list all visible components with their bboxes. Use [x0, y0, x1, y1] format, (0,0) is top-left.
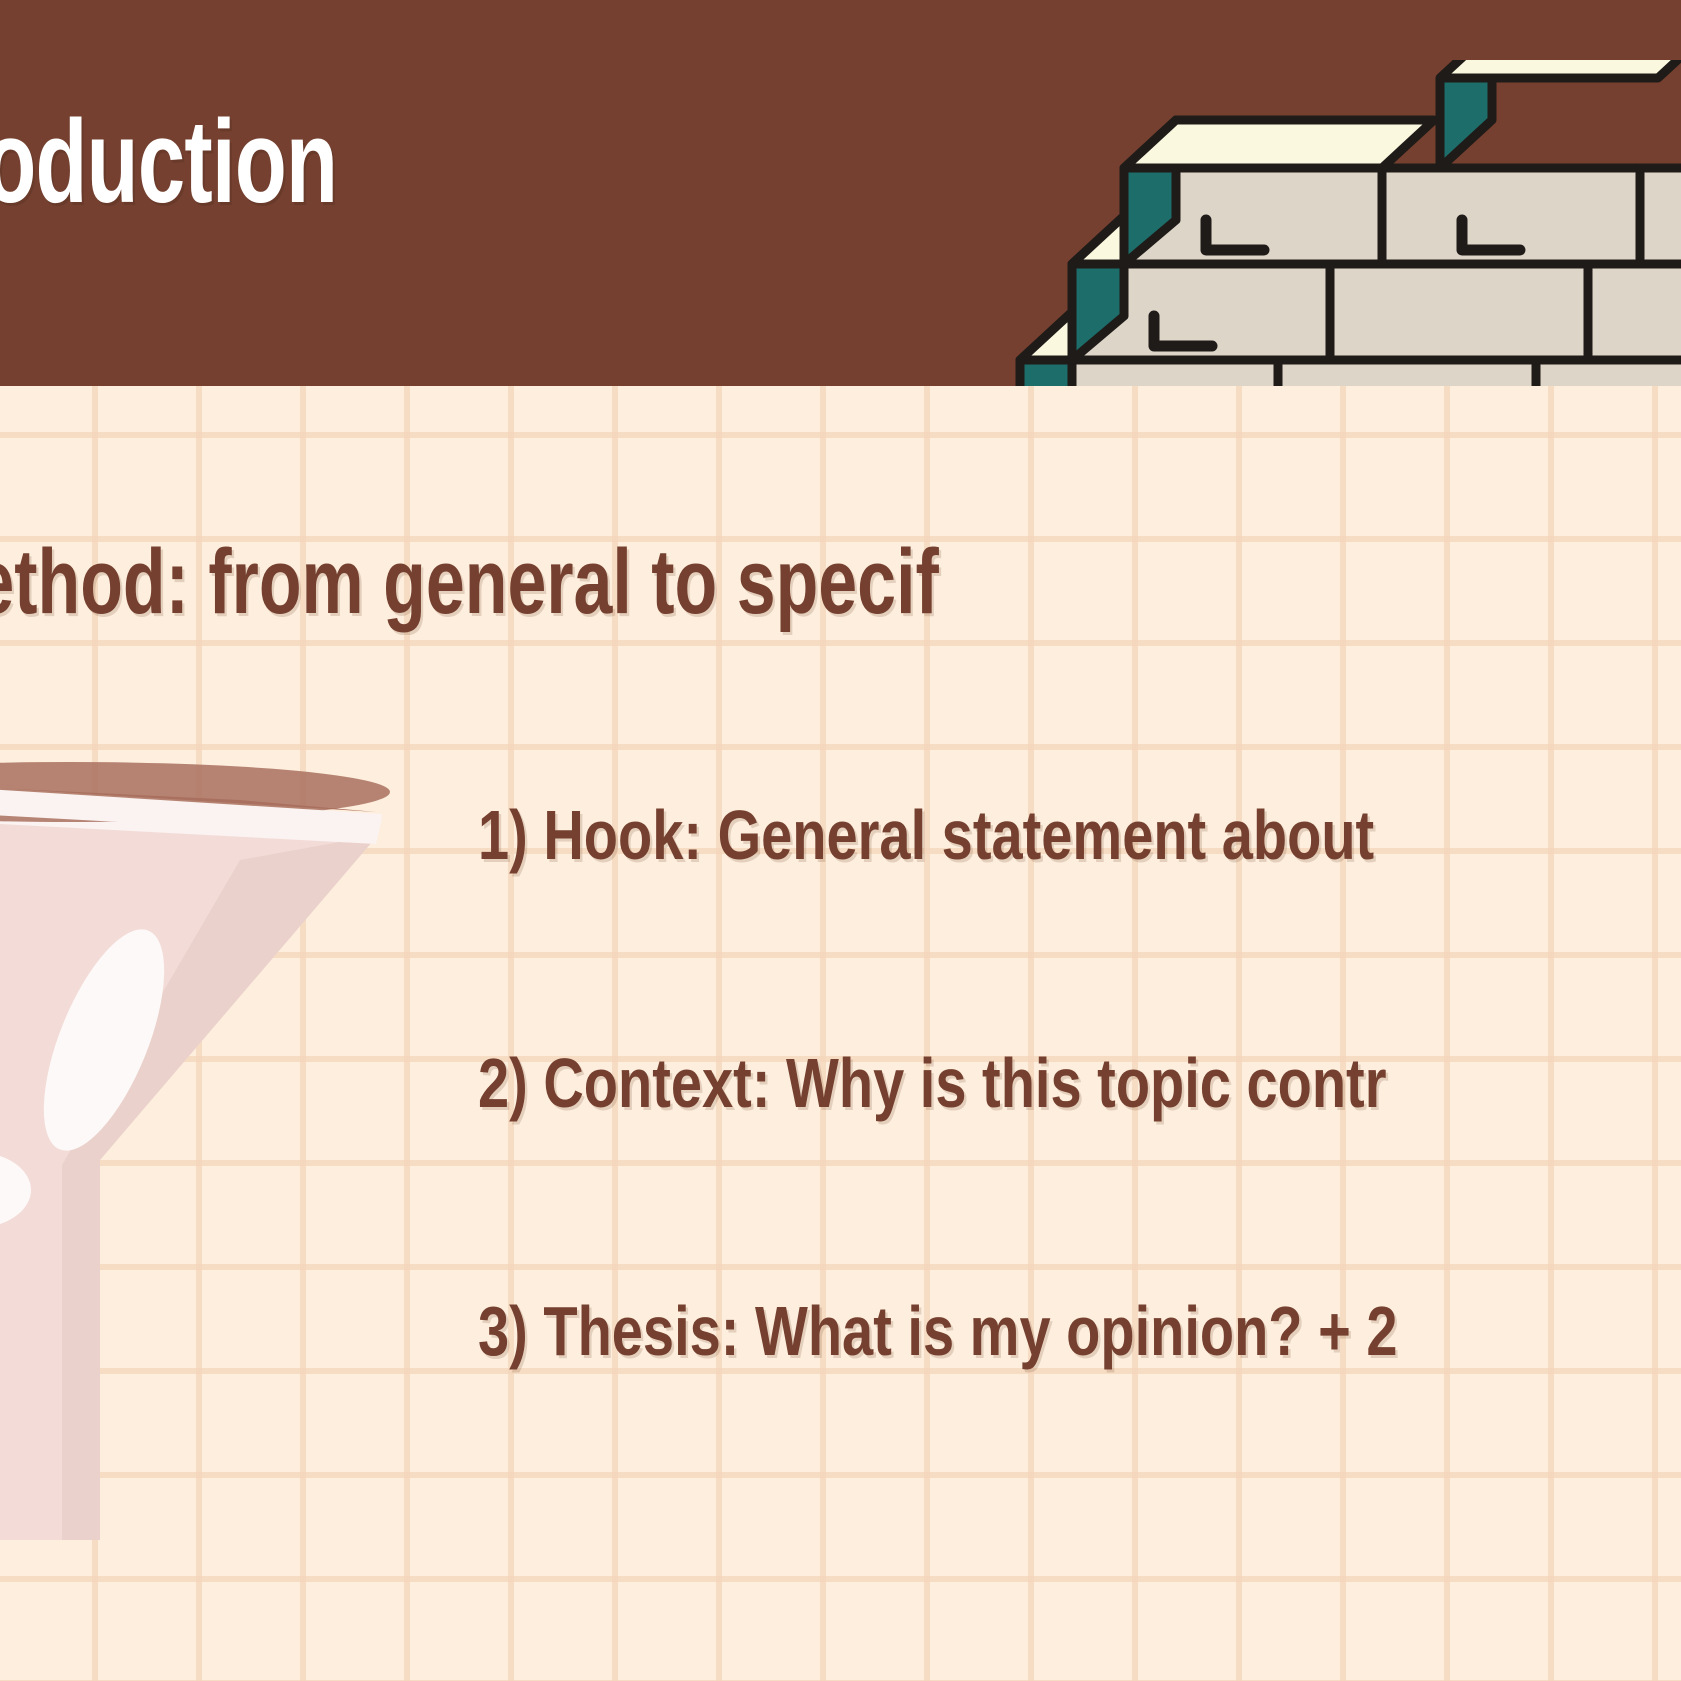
slide-root: ure – Introduction	[0, 0, 1681, 1681]
list-item-keyword: Thesis	[543, 1292, 720, 1370]
slide-subtitle: nnel method: from general to specif	[0, 530, 939, 635]
list-item-keyword: Context	[543, 1044, 751, 1122]
slide-header-bar: ure – Introduction	[0, 0, 1681, 386]
page-title: ure – Introduction	[0, 94, 337, 230]
intro-steps-list: 1) Hook: General statement about 2) Cont…	[478, 795, 1681, 1539]
list-item-text: Why is this topic contr	[770, 1044, 1386, 1122]
list-item-keyword: Hook	[543, 796, 683, 874]
list-item-lead: 1)	[478, 796, 528, 874]
list-item: 2) Context: Why is this topic contr	[478, 1043, 1518, 1123]
funnel-illustration	[0, 740, 390, 1560]
list-item-text: What is my opinion? + 2	[739, 1292, 1397, 1370]
list-item-text: General statement about	[702, 796, 1374, 874]
list-item-separator: :	[721, 1292, 740, 1370]
list-item: 1) Hook: General statement about	[478, 795, 1518, 875]
list-item-separator: :	[683, 796, 702, 874]
list-item-separator: :	[752, 1044, 771, 1122]
list-item: 3) Thesis: What is my opinion? + 2	[478, 1291, 1518, 1371]
list-item-lead: 3)	[478, 1292, 528, 1370]
list-item-lead: 2)	[478, 1044, 528, 1122]
brick-staircase-illustration	[1010, 60, 1681, 386]
